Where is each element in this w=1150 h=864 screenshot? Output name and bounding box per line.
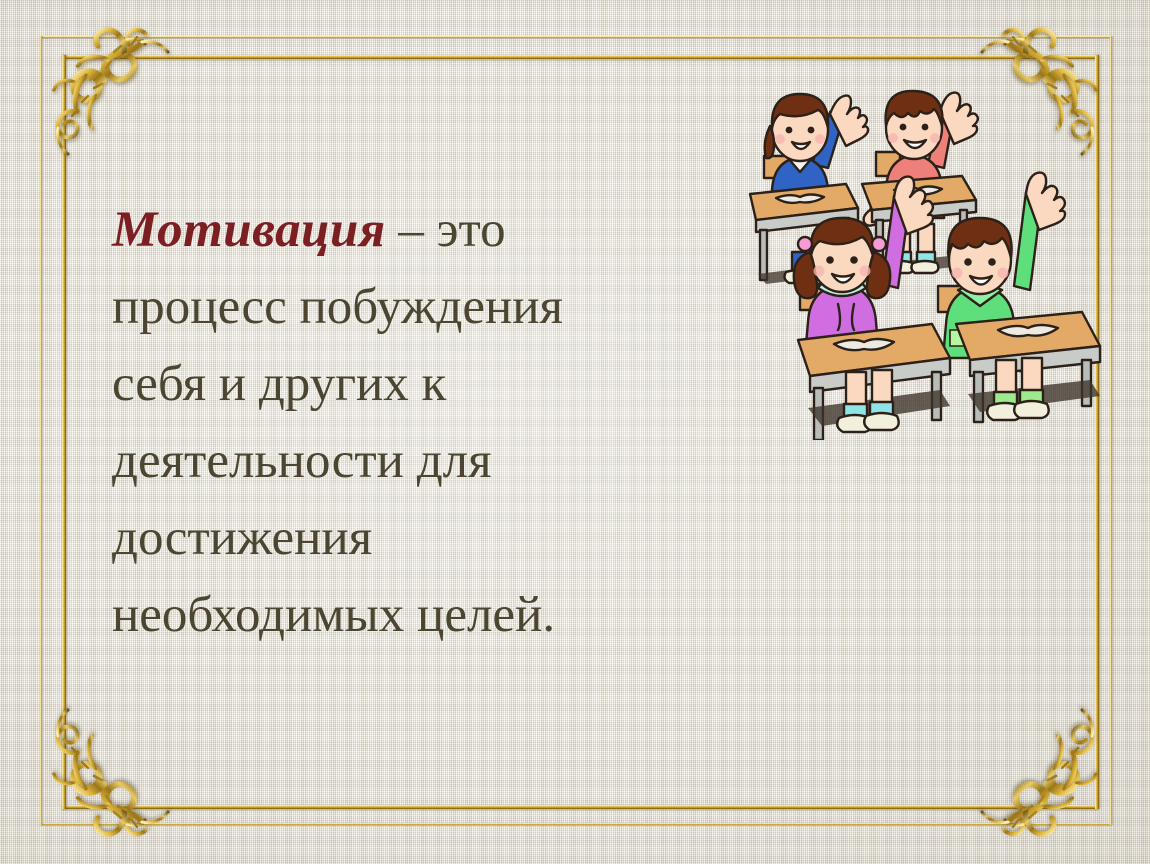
text-dash: –	[386, 202, 437, 258]
classroom-children-illustration: .ol{stroke:#2b2119;stroke-width:2.4;stro…	[742, 72, 1114, 440]
slide-canvas: .ol{stroke:#2b2119;stroke-width:2.4;stro…	[0, 0, 1150, 864]
text-line-5: достижения	[112, 500, 722, 577]
text-line-6: необходимых целей.	[112, 577, 722, 654]
keyword-motivatsiya: Мотивация	[112, 202, 386, 258]
text-line-2: процесс побуждения	[112, 269, 722, 346]
slide-body-text: Мотивация – это процесс побуждения себя …	[112, 192, 722, 654]
text-line-4: деятельности для	[112, 423, 722, 500]
text-after-keyword: это	[437, 202, 506, 258]
text-line-1: Мотивация – это	[112, 192, 722, 269]
text-line-3: себя и других к	[112, 346, 722, 423]
